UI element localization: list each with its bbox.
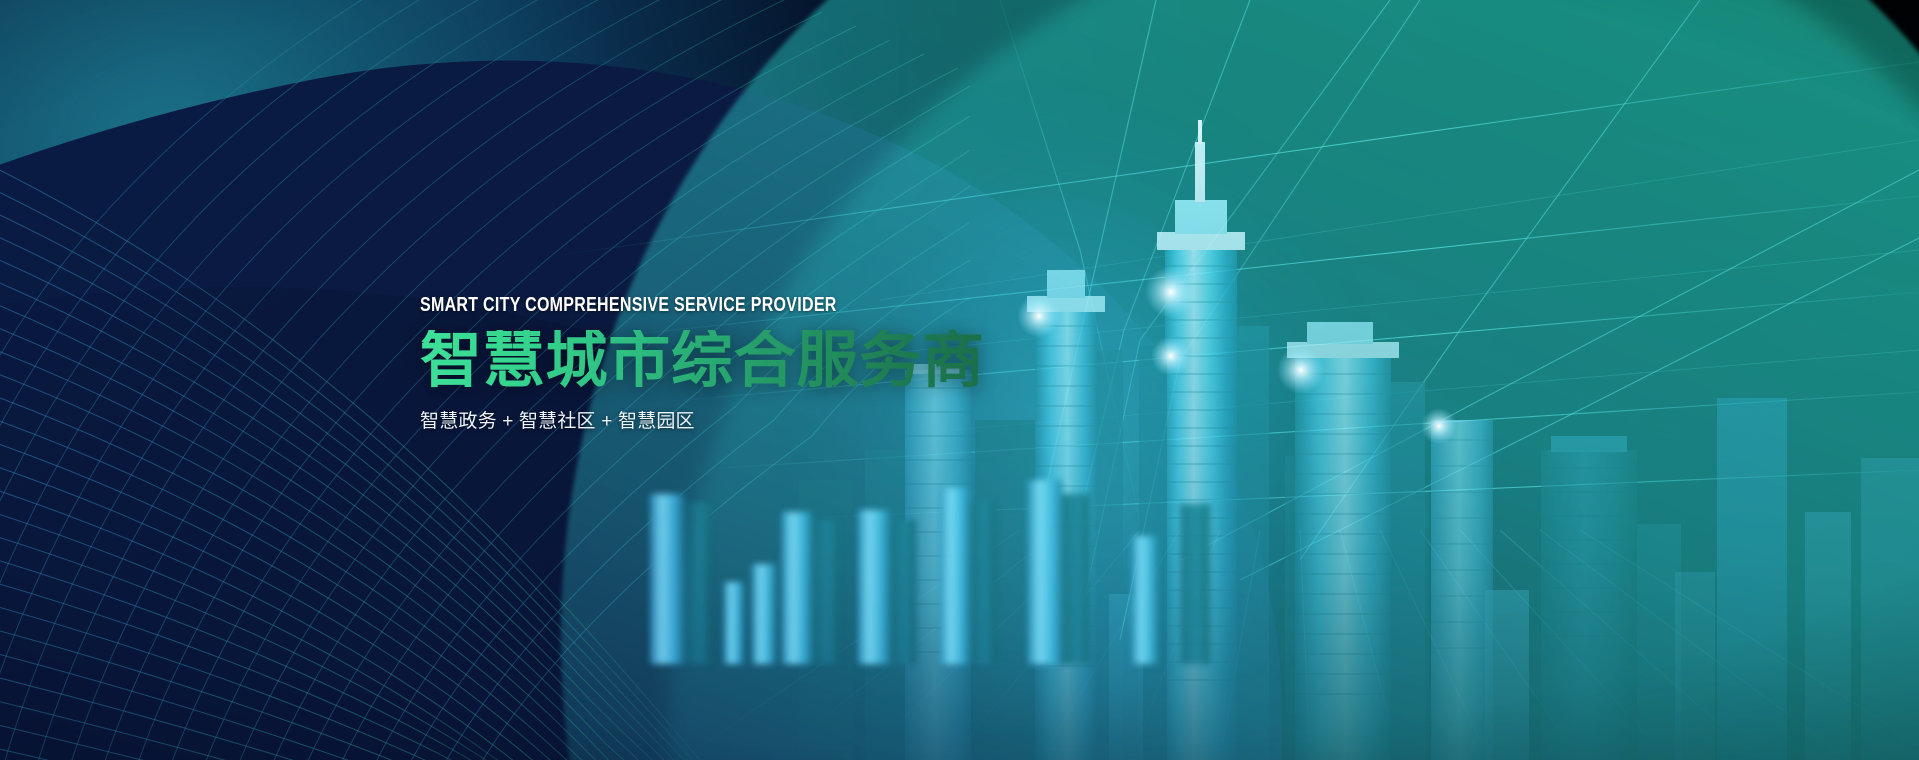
hero-banner: SMART CITY COMPREHENSIVE SERVICE PROVIDE… <box>0 0 1919 760</box>
hero-copy-block: SMART CITY COMPREHENSIVE SERVICE PROVIDE… <box>420 295 985 431</box>
hero-headline: 智慧城市综合服务商 <box>420 330 985 392</box>
hero-eyebrow: SMART CITY COMPREHENSIVE SERVICE PROVIDE… <box>420 295 872 315</box>
hero-tagline: 智慧政务 + 智慧社区 + 智慧园区 <box>420 412 985 431</box>
